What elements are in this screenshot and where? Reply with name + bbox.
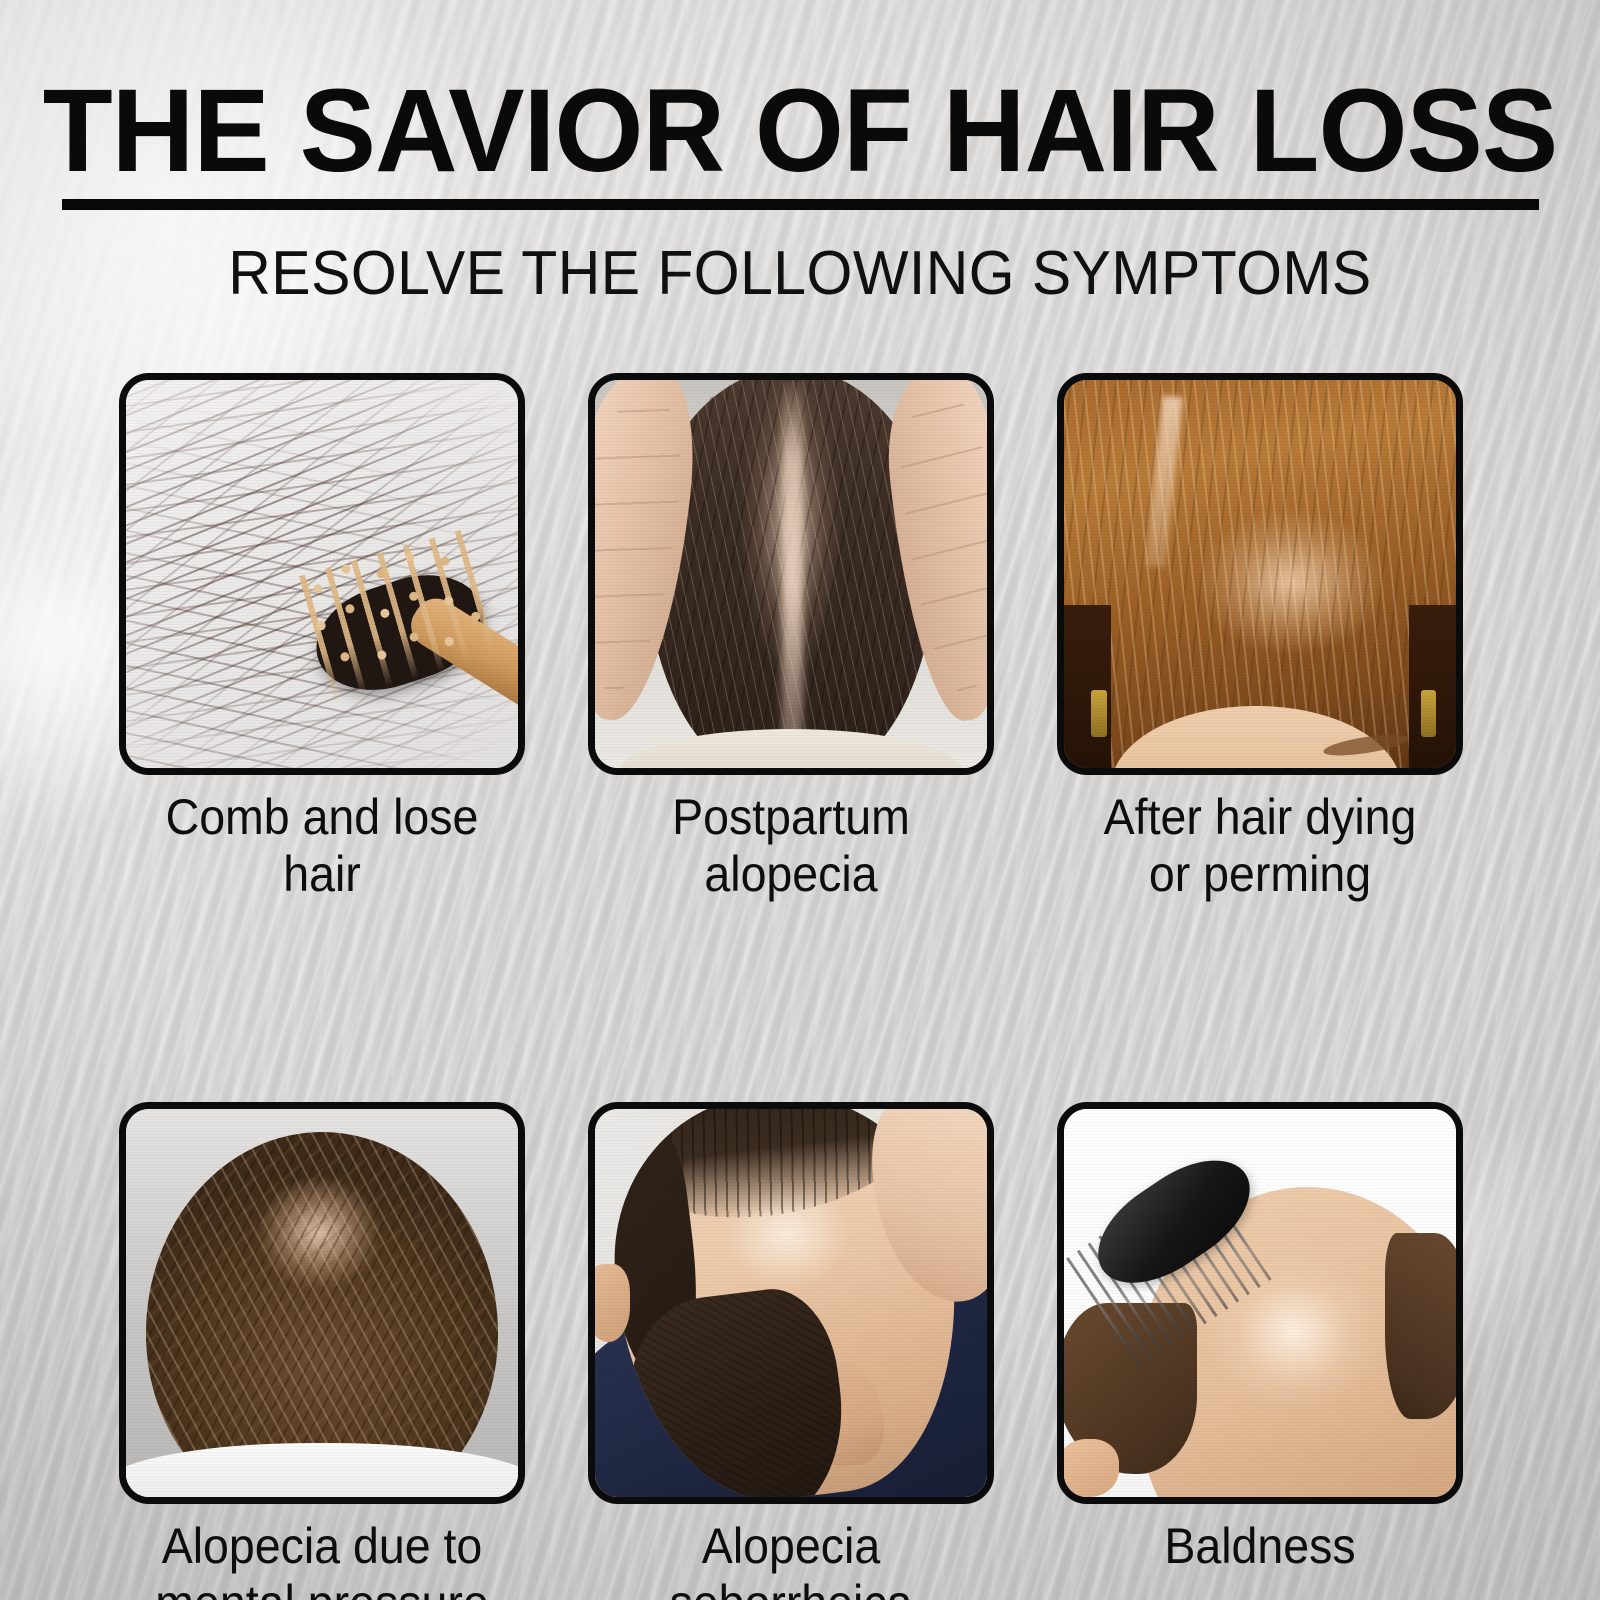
left-hair-clip (1091, 690, 1107, 737)
hair-loss-poster: THE SAVIOR OF HAIR LOSS RESOLVE THE FOLL… (0, 0, 1600, 1600)
symptom-caption: Alopecia due to mental pressure (133, 1518, 511, 1600)
thinning-part-scalp-image (595, 380, 987, 768)
right-fringe-hair-shape (1385, 1233, 1456, 1419)
symptom-row-2: Alopecia due to mental pressure (119, 1102, 1481, 1600)
left-side-hair-shape (1064, 605, 1111, 768)
hairbrush-with-shed-hair-image (126, 380, 518, 768)
page-subtitle: RESOLVE THE FOLLOWING SYMPTOMS (40, 243, 1560, 305)
bald-head-with-brush-image (1064, 1109, 1456, 1497)
symptom-card-alopecia-mental-pressure[interactable]: Alopecia due to mental pressure (119, 1102, 525, 1600)
ear-shape (1064, 1439, 1119, 1497)
symptom-caption: Alopecia seborrheica (602, 1518, 980, 1600)
page-title: THE SAVIOR OF HAIR LOSS (24, 72, 1576, 190)
title-underline (62, 199, 1539, 210)
symptom-card-alopecia-seborrheica[interactable]: Alopecia seborrheica (588, 1102, 994, 1600)
right-hair-clip (1421, 690, 1437, 737)
receding-hairline-image (595, 1109, 987, 1497)
symptom-card-postpartum-alopecia[interactable]: Postpartum alopecia (588, 373, 994, 902)
ginger-thinning-crown-image (1064, 380, 1456, 768)
row-spacer (119, 902, 1481, 1102)
right-side-hair-shape (1409, 605, 1456, 768)
symptom-image-frame (119, 1102, 525, 1504)
symptom-caption: Baldness (1071, 1518, 1449, 1575)
symptom-card-comb-and-lose-hair[interactable]: Comb and lose hair (119, 373, 525, 902)
symptom-card-baldness[interactable]: Baldness (1057, 1102, 1463, 1600)
symptom-caption: Comb and lose hair (133, 789, 511, 902)
symptom-caption: After hair dying or perming (1071, 789, 1449, 902)
symptom-row-1: Comb and lose hair (119, 373, 1481, 902)
symptom-card-after-hair-dying-or-perming[interactable]: After hair dying or perming (1057, 373, 1463, 902)
symptom-image-frame (1057, 1102, 1463, 1504)
symptom-image-frame (588, 373, 994, 775)
crown-bald-patch-image (126, 1109, 518, 1497)
symptom-image-frame (588, 1102, 994, 1504)
symptom-grid: Comb and lose hair (119, 373, 1481, 1600)
symptom-image-frame (1057, 373, 1463, 775)
symptom-image-frame (119, 373, 525, 775)
symptom-caption: Postpartum alopecia (602, 789, 980, 902)
scalp-part-line (782, 380, 802, 755)
